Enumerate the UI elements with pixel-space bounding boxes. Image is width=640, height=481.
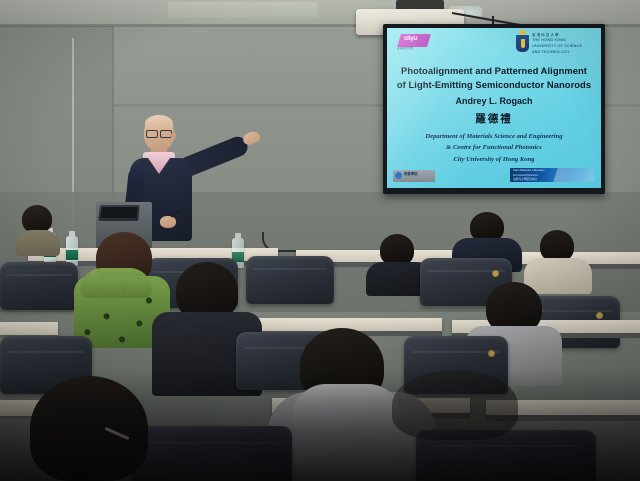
laptop-screen — [100, 207, 137, 218]
foreground-shadow — [0, 369, 640, 481]
slide-title: Photoalignment and Patterned Alignment o… — [387, 64, 601, 92]
cityu-logo: cityu 香港城市大學 — [397, 34, 435, 54]
hkust-line2: UNIVERSITY OF SCIENCE — [532, 44, 582, 50]
hkust-line3: AND TECHNOLOGY — [532, 50, 582, 56]
slide-title-line2: of Light-Emitting Semiconductor Nanorods — [393, 78, 595, 92]
slide-title-line1: Photoalignment and Patterned Alignment — [393, 64, 595, 78]
affiliation-line3: City University of Hong Kong — [387, 154, 601, 165]
affiliation-line1: Department of Materials Science and Engi… — [387, 131, 601, 142]
footer-banner-line1: Nano Materials Laboratory — [513, 169, 545, 174]
slide-author-name: Andrey L. Rogach — [387, 96, 601, 106]
lecture-hall-photo: cityu 香港城市大學 香港科技大學 THE HONG KONG UNIVER… — [0, 0, 640, 481]
presentation-slide: cityu 香港城市大學 香港科技大學 THE HONG KONG UNIVER… — [387, 28, 601, 188]
ceiling-vent — [168, 2, 318, 18]
ceiling — [0, 0, 640, 26]
slide-footer-left-badge: 物質學院 — [393, 170, 435, 182]
footer-badge-dot-icon — [395, 172, 402, 179]
hkust-crest-dot-icon — [519, 30, 526, 35]
audience-torso-beige — [524, 258, 592, 294]
audience-torso-camo — [16, 230, 60, 256]
footer-banner-text: Nano Materials Laboratory Functional Pho… — [513, 169, 545, 182]
affiliation-line2: & Centre for Functional Photonics — [387, 142, 601, 153]
bottle-cap-2 — [69, 231, 75, 237]
green-hoodie-hood — [80, 268, 152, 298]
hkust-name-en: THE HONG KONG UNIVERSITY OF SCIENCE AND … — [532, 38, 582, 56]
cityu-subtitle-cn: 香港城市大學 — [397, 47, 413, 51]
glasses-icon — [145, 130, 173, 136]
cityu-wordmark: cityu — [404, 36, 417, 42]
chair-knob-3 — [488, 350, 495, 357]
hkust-logo: 香港科技大學 THE HONG KONG UNIVERSITY OF SCIEN… — [516, 33, 594, 57]
chair-knob-2 — [596, 312, 603, 319]
slide-author-name-chinese: 羅德禮 — [387, 111, 601, 126]
presenter-ear — [171, 132, 176, 140]
footer-banner-line3: 功能光子學研究中心 — [513, 178, 545, 182]
presenter-left-hand — [160, 216, 176, 228]
hkust-crest-icon — [516, 35, 529, 52]
bottle-cap-3 — [235, 233, 241, 239]
slide-affiliation: Department of Materials Science and Engi… — [387, 131, 601, 165]
chair-row2-3[interactable] — [246, 256, 334, 304]
slide-footer-right-banner: Nano Materials Laboratory Functional Pho… — [510, 168, 594, 182]
desk-row2-left — [0, 322, 58, 335]
footer-badge-text: 物質學院 — [404, 172, 418, 177]
audience-head-camo — [22, 205, 52, 233]
chair-row2-1[interactable] — [0, 262, 78, 310]
chair-knob-1 — [492, 270, 499, 277]
laptop — [98, 205, 140, 221]
bottle-label-2 — [66, 250, 78, 260]
